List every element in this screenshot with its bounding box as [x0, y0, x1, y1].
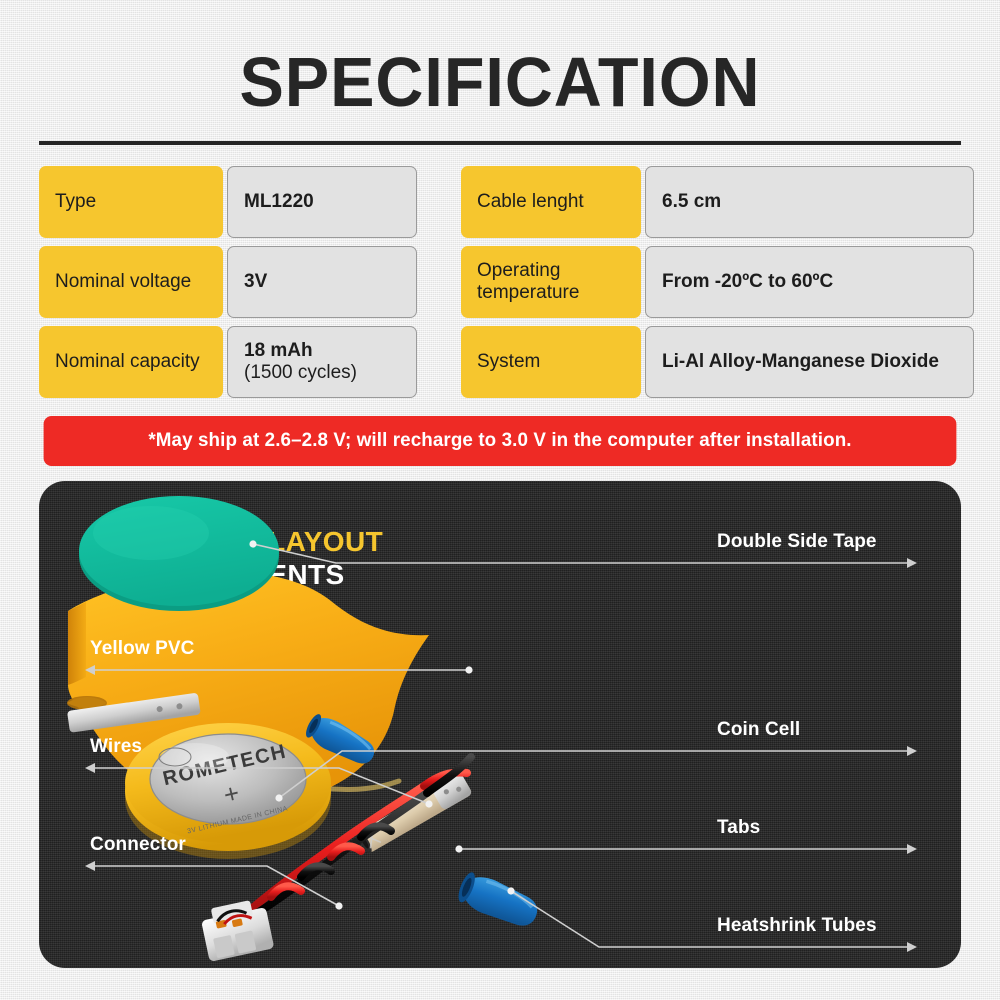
- spec-value-text: 3V: [244, 271, 267, 293]
- spec-value-text: ML1220: [244, 191, 314, 213]
- label-connector: Connector: [90, 834, 186, 856]
- schematic-panel: SCHEMATIC LAYOUT OF COMPONENTS: [39, 481, 961, 968]
- label-coin-cell: Coin Cell: [717, 719, 800, 741]
- label-wires: Wires: [90, 736, 142, 758]
- spec-label: System: [461, 326, 641, 398]
- spec-value: 6.5 cm: [645, 166, 974, 238]
- spec-value: 18 mAh (1500 cycles): [227, 326, 417, 398]
- label-double-side-tape: Double Side Tape: [717, 531, 877, 553]
- specification-table: Type ML1220 Cable lenght 6.5 cm Nominal …: [39, 166, 961, 398]
- spec-label: Operating temperature: [461, 246, 641, 318]
- spec-value-text: 18 mAh: [244, 340, 313, 361]
- spec-value: ML1220: [227, 166, 417, 238]
- grid-gap: [421, 166, 457, 238]
- label-tabs: Tabs: [717, 817, 760, 839]
- title-divider: [39, 141, 961, 145]
- label-heatshrink-tubes: Heatshrink Tubes: [717, 915, 877, 937]
- spec-label: Nominal voltage: [39, 246, 223, 318]
- spec-value: Li-Al Alloy-Manganese Dioxide: [645, 326, 974, 398]
- leader-lines: [39, 481, 961, 968]
- spec-value: From -20ºC to 60ºC: [645, 246, 974, 318]
- shipping-voltage-note: *May ship at 2.6–2.8 V; will recharge to…: [44, 416, 957, 466]
- grid-gap: [421, 326, 457, 398]
- grid-gap: [421, 246, 457, 318]
- label-yellow-pvc: Yellow PVC: [90, 638, 194, 660]
- spec-label: Nominal capacity: [39, 326, 223, 398]
- spec-label: Type: [39, 166, 223, 238]
- spec-value: 3V: [227, 246, 417, 318]
- spec-value-subtext: (1500 cycles): [244, 362, 357, 384]
- spec-label: Cable lenght: [461, 166, 641, 238]
- page-title: SPECIFICATION: [25, 47, 975, 117]
